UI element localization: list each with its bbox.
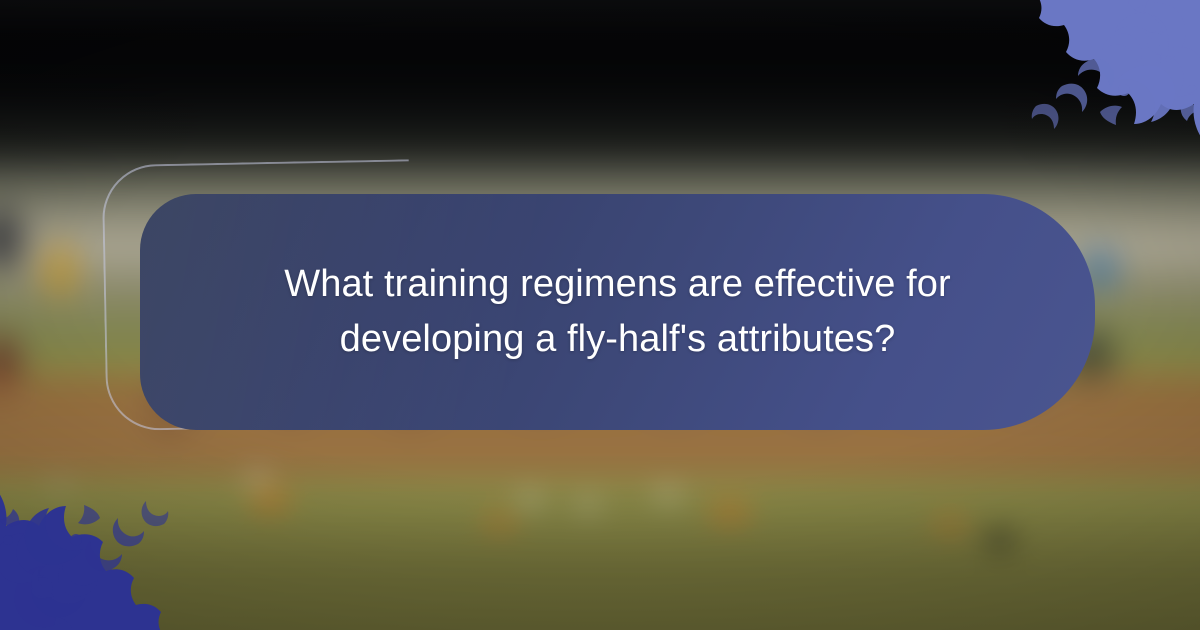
question-card-image: What training regimens are effective for…: [0, 0, 1200, 630]
question-headline: What training regimens are effective for…: [258, 257, 978, 367]
question-card: What training regimens are effective for…: [140, 194, 1095, 430]
